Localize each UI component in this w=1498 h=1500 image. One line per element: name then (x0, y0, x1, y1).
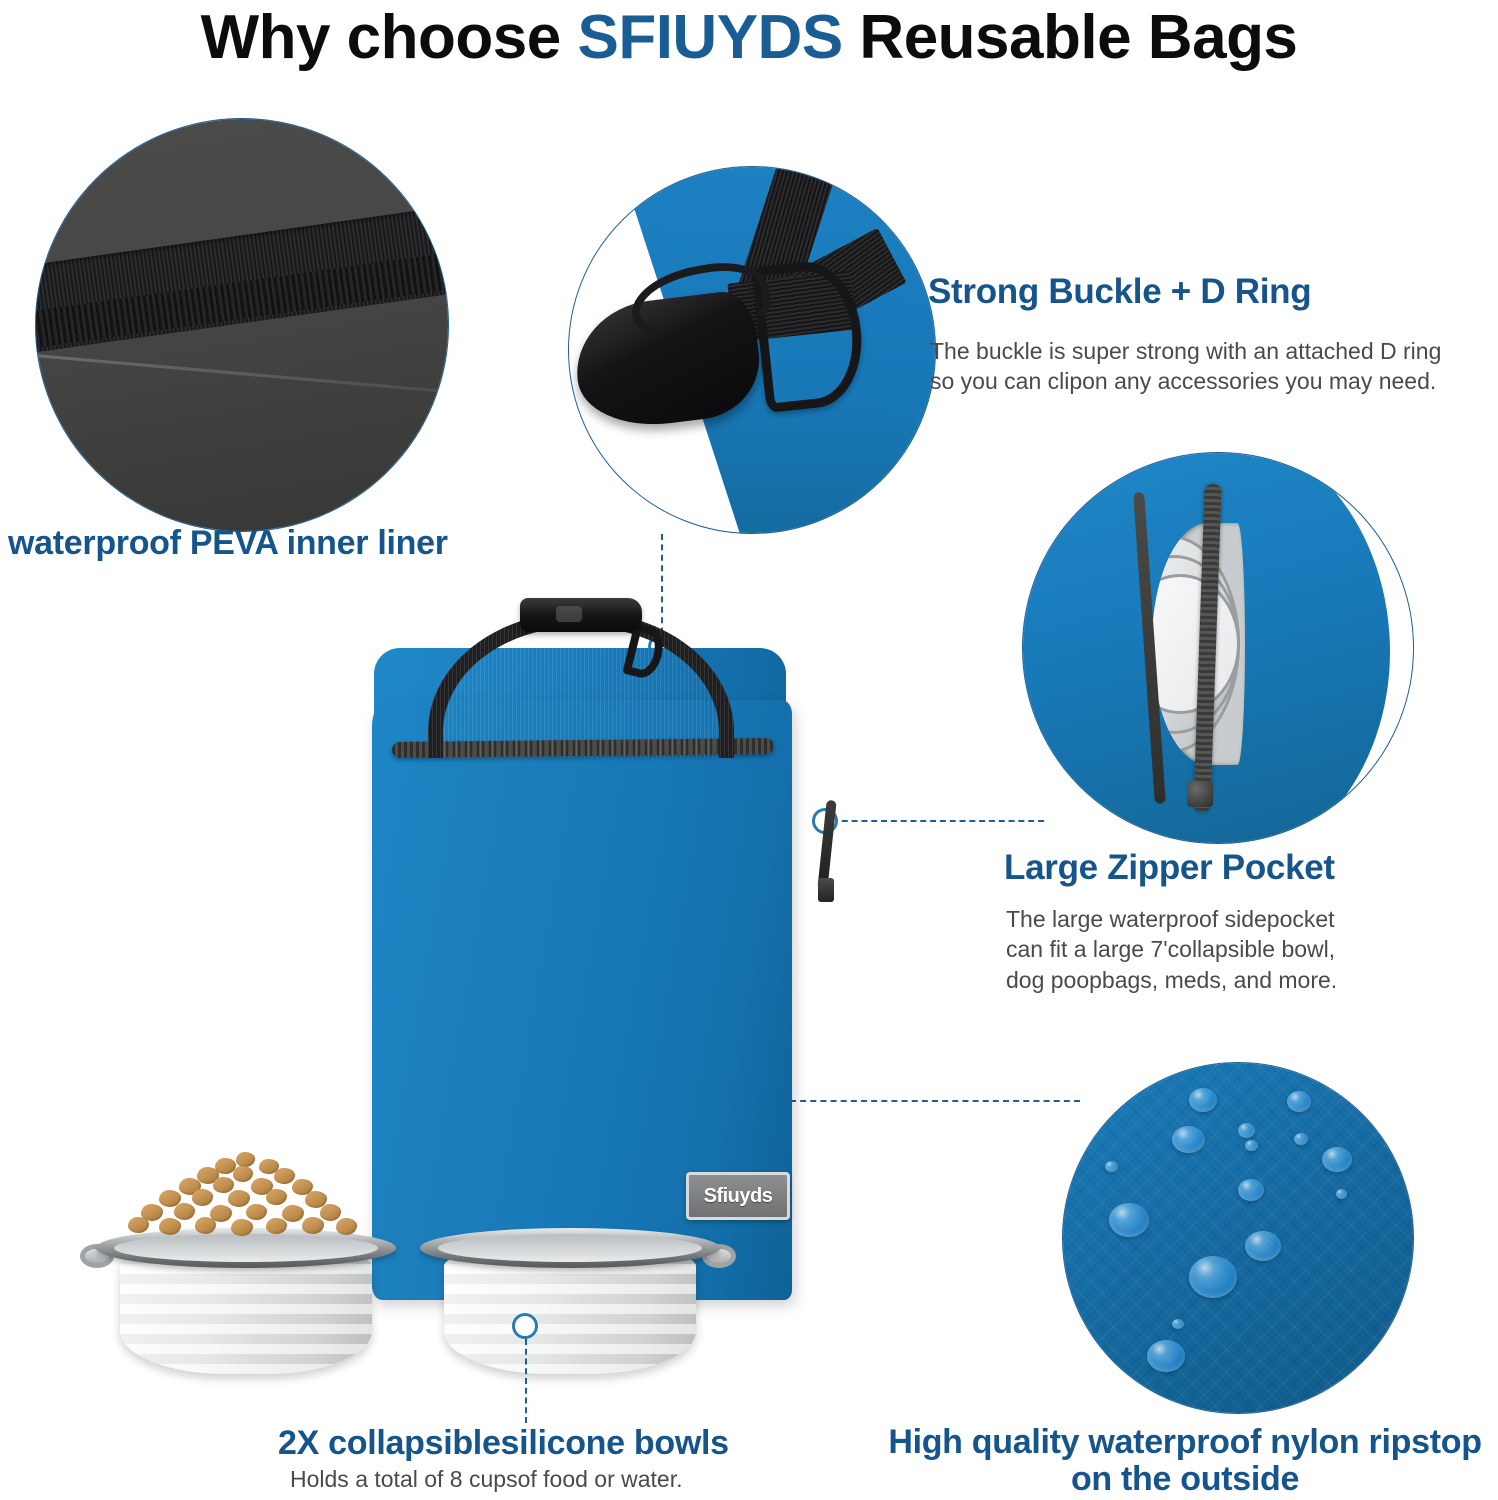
water-droplet (1238, 1123, 1255, 1138)
zipper-body-line-2: can fit a large 7'collapsible bowl, (1006, 934, 1426, 964)
bowl-empty (420, 1228, 720, 1388)
ripstop-fabric-weave (1063, 1063, 1413, 1413)
buckle-image (569, 167, 935, 533)
bowls-label: 2X collapsiblesilicone bowls (278, 1424, 729, 1463)
bowls-sublabel: Holds a total of 8 cupsof food or water. (290, 1466, 683, 1493)
buckle-body-text: The buckle is super strong with an attac… (930, 336, 1490, 397)
zipper-body-line-1: The large waterproof sidepocket (1006, 904, 1426, 934)
ripstop-image (1063, 1063, 1413, 1413)
peva-liner-image (36, 119, 448, 531)
water-droplet (1189, 1256, 1237, 1298)
peva-liner-label: waterproof PEVA inner liner (8, 524, 448, 563)
buckle-body-line-1: The buckle is super strong with an attac… (930, 336, 1490, 366)
zipper-pocket-photo (1022, 452, 1414, 844)
bowl-silicone-body (444, 1254, 696, 1374)
title-prefix: Why choose (201, 3, 578, 72)
zipper-heading: Large Zipper Pocket (1004, 848, 1335, 888)
water-droplet (1238, 1179, 1264, 1201)
title-brand: SFIUYDS (577, 3, 842, 72)
infographic-page: Why choose SFIUYDS Reusable Bags waterpr… (0, 0, 1498, 1500)
bowl-interior (438, 1234, 702, 1262)
zipper-body-text: The large waterproof sidepocket can fit … (1006, 904, 1426, 995)
water-droplet (1245, 1231, 1281, 1261)
buckle-heading: Strong Buckle + D Ring (928, 272, 1311, 312)
bowl-silicone-body (120, 1254, 372, 1374)
page-title: Why choose SFIUYDS Reusable Bags (0, 2, 1498, 73)
buckle-body-line-2: so you can clipon any accessories you ma… (930, 366, 1490, 396)
callout-dot-bowls (512, 1313, 538, 1339)
water-droplet (1147, 1340, 1185, 1372)
kibble-pile (118, 1150, 374, 1246)
ripstop-label-line-2: on the outside (880, 1461, 1490, 1498)
ripstop-label-line-1: High quality waterproof nylon ripstop (880, 1424, 1490, 1461)
brand-tag: Sfiuyds (686, 1172, 790, 1220)
bag-buckle-slot (556, 606, 582, 622)
callout-line-zipper (832, 820, 1044, 822)
bag-handle-texture (428, 612, 734, 758)
water-droplet (1322, 1147, 1352, 1172)
water-droplet (1294, 1133, 1308, 1145)
ripstop-water-photo (1062, 1062, 1414, 1414)
zipper-pull-icon (1187, 781, 1213, 807)
water-droplet (1172, 1319, 1184, 1329)
water-droplet (1287, 1091, 1311, 1112)
bowl-with-food (96, 1228, 396, 1388)
water-droplet (1245, 1140, 1258, 1151)
peva-liner-photo (35, 118, 449, 532)
water-droplet (1105, 1161, 1118, 1172)
water-droplet (1109, 1203, 1149, 1237)
buckle-photo (568, 166, 936, 534)
zipper-body-line-3: dog poopbags, meds, and more. (1006, 965, 1426, 995)
ripstop-label: High quality waterproof nylon ripstop on… (880, 1424, 1490, 1497)
zipper-pocket-image (1023, 453, 1413, 843)
bag-side-zipper-pull-icon (818, 878, 834, 902)
brand-tag-text: Sfiuyds (704, 1185, 773, 1208)
title-suffix: Reusable Bags (843, 3, 1298, 72)
water-droplet (1189, 1088, 1217, 1112)
callout-line-buckle (661, 534, 663, 644)
water-droplet (1336, 1189, 1347, 1199)
water-droplet (1172, 1126, 1205, 1153)
callout-line-bowls (525, 1339, 527, 1423)
callout-line-ripstop (790, 1100, 1080, 1102)
